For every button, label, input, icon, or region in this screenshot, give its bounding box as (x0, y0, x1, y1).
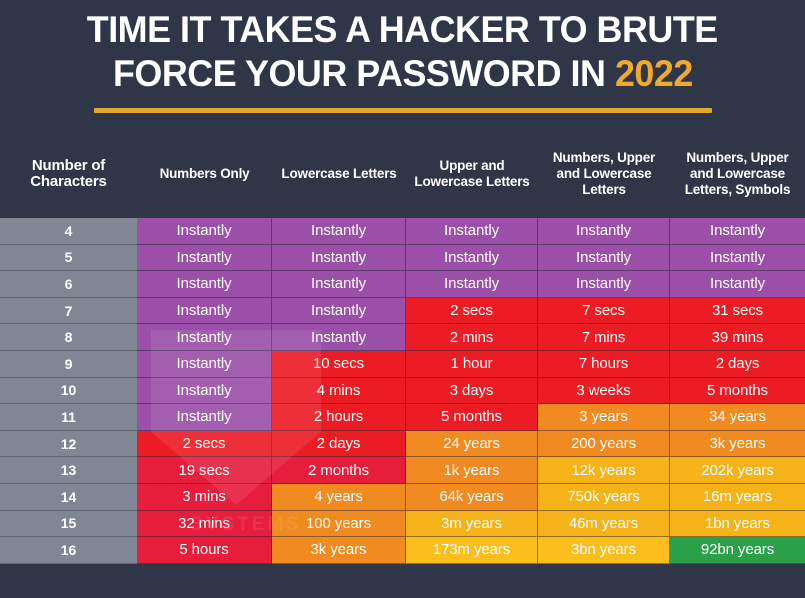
column-header-0: Number of Characters (0, 130, 137, 218)
crack-time-cell: 1k years (406, 457, 538, 484)
row-character-count: 5 (0, 245, 137, 272)
crack-time-cell: Instantly (137, 404, 272, 431)
crack-time-cell: 3 years (538, 404, 670, 431)
crack-time-cell: Instantly (406, 245, 538, 272)
crack-time-cell: 92bn years (670, 537, 805, 564)
crack-time-cell: 3k years (670, 431, 805, 458)
crack-time-cell: 7 mins (538, 324, 670, 351)
table-row: 11Instantly2 hours5 months3 years34 year… (0, 404, 805, 431)
row-character-count: 11 (0, 404, 137, 431)
password-strength-table: Number of CharactersNumbers OnlyLowercas… (0, 130, 805, 598)
row-character-count: 15 (0, 511, 137, 538)
column-header-3: Upper and Lowercase Letters (406, 130, 538, 218)
row-character-count: 14 (0, 484, 137, 511)
column-header-5: Numbers, Upper and Lowercase Letters, Sy… (670, 130, 805, 218)
table-row: 7InstantlyInstantly2 secs7 secs31 secs (0, 298, 805, 325)
crack-time-cell: Instantly (272, 271, 406, 298)
crack-time-cell: Instantly (137, 245, 272, 272)
crack-time-cell: 3bn years (538, 537, 670, 564)
row-character-count: 10 (0, 378, 137, 405)
crack-time-cell: Instantly (137, 351, 272, 378)
table-row: 165 hours3k years173m years3bn years92bn… (0, 537, 805, 564)
crack-time-cell: 5 months (670, 378, 805, 405)
crack-time-cell: 100 years (272, 511, 406, 538)
crack-time-cell: 7 hours (538, 351, 670, 378)
column-header-4: Numbers, Upper and Lowercase Letters (538, 130, 670, 218)
crack-time-cell: Instantly (538, 245, 670, 272)
crack-time-cell: 46m years (538, 511, 670, 538)
crack-time-cell: 4 mins (272, 378, 406, 405)
crack-time-cell: 2 hours (272, 404, 406, 431)
crack-time-cell: Instantly (538, 218, 670, 245)
title-divider (94, 108, 712, 113)
crack-time-cell: 5 months (406, 404, 538, 431)
crack-time-cell: 5 hours (137, 537, 272, 564)
row-character-count: 7 (0, 298, 137, 325)
crack-time-cell: 200 years (538, 431, 670, 458)
crack-time-cell: Instantly (272, 324, 406, 351)
title-line-2-text: FORCE YOUR PASSWORD IN (113, 53, 615, 94)
row-character-count: 6 (0, 271, 137, 298)
crack-time-cell: 39 mins (670, 324, 805, 351)
crack-time-cell: Instantly (670, 245, 805, 272)
row-character-count: 8 (0, 324, 137, 351)
crack-time-cell: 2 secs (137, 431, 272, 458)
crack-time-cell: Instantly (137, 324, 272, 351)
table-row: 4InstantlyInstantlyInstantlyInstantlyIns… (0, 218, 805, 245)
crack-time-cell: 3k years (272, 537, 406, 564)
crack-time-cell: 3 days (406, 378, 538, 405)
table-row: 1319 secs2 months1k years12k years202k y… (0, 457, 805, 484)
crack-time-cell: 2 months (272, 457, 406, 484)
crack-time-cell: 12k years (538, 457, 670, 484)
crack-time-cell: 1bn years (670, 511, 805, 538)
crack-time-cell: Instantly (538, 271, 670, 298)
column-header-2: Lowercase Letters (272, 130, 406, 218)
table-header-row: Number of CharactersNumbers OnlyLowercas… (0, 130, 805, 218)
crack-time-cell: 31 secs (670, 298, 805, 325)
crack-time-cell: 3m years (406, 511, 538, 538)
table-row: 1532 mins100 years3m years46m years1bn y… (0, 511, 805, 538)
crack-time-cell: Instantly (406, 271, 538, 298)
crack-time-cell: Instantly (670, 271, 805, 298)
row-character-count: 13 (0, 457, 137, 484)
crack-time-cell: 750k years (538, 484, 670, 511)
crack-time-cell: 7 secs (538, 298, 670, 325)
crack-time-cell: 19 secs (137, 457, 272, 484)
crack-time-cell: 3 weeks (538, 378, 670, 405)
table-row: 6InstantlyInstantlyInstantlyInstantlyIns… (0, 271, 805, 298)
crack-time-cell: 4 years (272, 484, 406, 511)
crack-time-cell: 173m years (406, 537, 538, 564)
crack-time-cell: Instantly (137, 271, 272, 298)
crack-time-cell: Instantly (137, 218, 272, 245)
table-row: 10Instantly4 mins3 days3 weeks5 months (0, 378, 805, 405)
crack-time-cell: 24 years (406, 431, 538, 458)
row-character-count: 9 (0, 351, 137, 378)
crack-time-cell: 32 mins (137, 511, 272, 538)
crack-time-cell: 34 years (670, 404, 805, 431)
crack-time-cell: 2 days (272, 431, 406, 458)
crack-time-cell: 1 hour (406, 351, 538, 378)
crack-time-cell: 64k years (406, 484, 538, 511)
table-row: 143 mins4 years64k years750k years16m ye… (0, 484, 805, 511)
crack-time-cell: 2 days (670, 351, 805, 378)
table-row: 8InstantlyInstantly2 mins7 mins39 mins (0, 324, 805, 351)
crack-time-cell: Instantly (137, 378, 272, 405)
crack-time-cell: Instantly (137, 298, 272, 325)
title-block: TIME IT TAKES A HACKER TO BRUTE FORCE YO… (0, 0, 805, 130)
table-row: 5InstantlyInstantlyInstantlyInstantlyIns… (0, 245, 805, 272)
title-line-1: TIME IT TAKES A HACKER TO BRUTE (87, 8, 718, 52)
table-row: 9Instantly10 secs1 hour7 hours2 days (0, 351, 805, 378)
crack-time-cell: Instantly (272, 245, 406, 272)
row-character-count: 12 (0, 431, 137, 458)
title-year: 2022 (615, 53, 693, 94)
crack-time-cell: 2 secs (406, 298, 538, 325)
crack-time-cell: 3 mins (137, 484, 272, 511)
column-header-1: Numbers Only (137, 130, 272, 218)
row-character-count: 16 (0, 537, 137, 564)
crack-time-cell: 202k years (670, 457, 805, 484)
crack-time-cell: Instantly (670, 218, 805, 245)
crack-time-cell: Instantly (272, 298, 406, 325)
title-line-2: FORCE YOUR PASSWORD IN 2022 (113, 52, 693, 96)
crack-time-cell: Instantly (272, 218, 406, 245)
crack-time-cell: Instantly (406, 218, 538, 245)
crack-time-cell: 10 secs (272, 351, 406, 378)
row-character-count: 4 (0, 218, 137, 245)
crack-time-cell: 16m years (670, 484, 805, 511)
crack-time-cell: 2 mins (406, 324, 538, 351)
table-row: 122 secs2 days24 years200 years3k years (0, 431, 805, 458)
password-bruteforce-infographic: TIME IT TAKES A HACKER TO BRUTE FORCE YO… (0, 0, 805, 598)
